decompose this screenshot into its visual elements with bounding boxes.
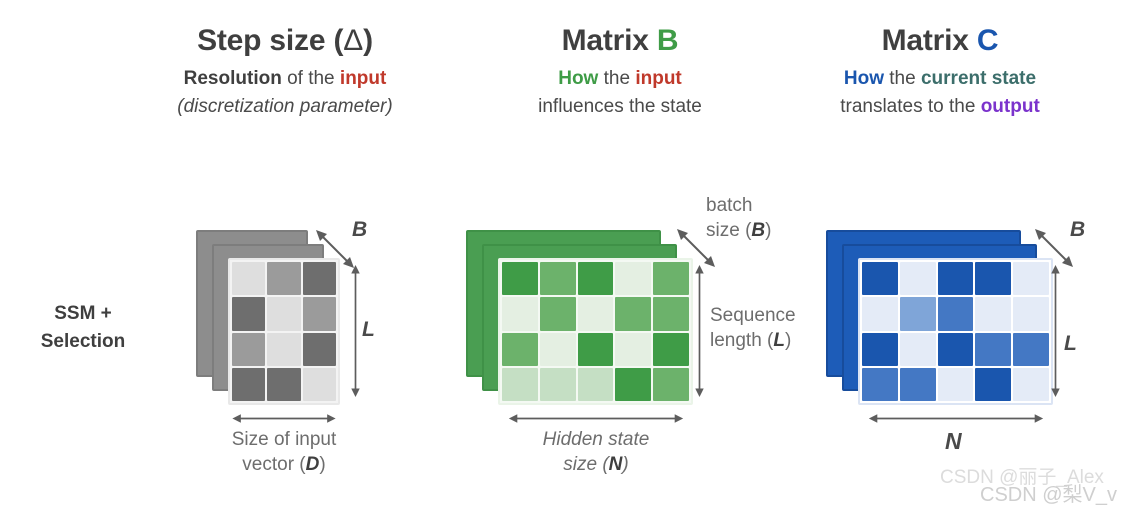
dimension-label-L-blue: L	[1064, 332, 1077, 356]
caption-symbol-D: D	[306, 454, 320, 475]
matrix-cell	[975, 333, 1011, 366]
diagram-canvas: Step size (Δ) Resolution of the input (d…	[0, 0, 1122, 507]
title-text: Step size (	[197, 24, 343, 57]
column-title-matrix-c: Matrix C	[790, 22, 1090, 60]
matrix-cell	[862, 297, 898, 330]
matrix-cell	[653, 333, 689, 366]
matrix-cell	[862, 333, 898, 366]
annotation-batch-size: batch size (B)	[706, 193, 826, 243]
matrix-cell	[578, 262, 614, 295]
row-label-ssm-selection: SSM + Selection	[8, 300, 158, 355]
matrix-cell	[862, 368, 898, 401]
batch-symbol-B: B	[751, 220, 765, 241]
caption-line2-pre: size (	[563, 454, 608, 475]
row-label-line1: SSM +	[8, 300, 158, 328]
caption-step-size: Size of input vector (D)	[178, 428, 390, 477]
dimension-arrow-D-gray	[222, 413, 346, 424]
sub-word-resolution: Resolution	[184, 68, 282, 89]
caption-line2: vector (D)	[178, 453, 390, 478]
matrix-cell	[232, 333, 265, 366]
dimension-arrow-N-green	[492, 413, 700, 424]
matrix-grid-matrix-b	[498, 258, 693, 405]
matrix-cell	[862, 262, 898, 295]
matrix-cell	[267, 368, 300, 401]
caption-line2: size (N)	[490, 453, 702, 478]
matrix-cell	[303, 333, 336, 366]
title-text: Matrix	[562, 24, 657, 57]
column-subtitle-matrix-c-line2: translates to the output	[790, 95, 1090, 119]
dimension-label-N-blue: N	[945, 428, 962, 455]
batch-size-line2: size (B)	[706, 218, 826, 243]
matrix-cell	[975, 368, 1011, 401]
matrix-cell	[267, 333, 300, 366]
dimension-arrow-L-green	[694, 252, 705, 410]
dimension-arrow-N-blue	[852, 413, 1060, 424]
matrix-cell	[267, 297, 300, 330]
matrix-cell	[975, 297, 1011, 330]
matrix-cell	[540, 262, 576, 295]
dimension-arrow-L-blue	[1050, 252, 1061, 410]
caption-line1: Size of input	[178, 428, 390, 453]
matrix-cell	[303, 297, 336, 330]
matrix-cell	[578, 333, 614, 366]
dimension-arrow-L-gray	[350, 252, 361, 410]
matrix-cell	[267, 262, 300, 295]
batch-size-line1: batch	[706, 193, 826, 218]
caption-symbol-N: N	[609, 454, 623, 475]
column-subtitle-step-size-line2: (discretization parameter)	[110, 95, 460, 119]
matrix-cell	[615, 368, 651, 401]
column-subtitle-matrix-b-line2: influences the state	[470, 95, 770, 119]
title-symbol-delta: Δ	[343, 24, 363, 57]
sequence-line2-pre: length (	[710, 330, 773, 351]
dimension-arrow-B-gray	[314, 228, 356, 270]
matrix-cell	[653, 368, 689, 401]
matrix-cell	[232, 262, 265, 295]
matrix-cell	[1013, 368, 1049, 401]
column-title-matrix-b: Matrix B	[470, 22, 770, 60]
title-symbol-c: C	[977, 24, 998, 57]
matrix-cell	[502, 262, 538, 295]
watermark-csdn-2: CSDN @梨V_v	[980, 478, 1117, 507]
sub-word-connector: the	[598, 68, 635, 89]
column-subtitle-matrix-c-line1: How the current state	[790, 67, 1090, 91]
dimension-label-B-gray: B	[352, 218, 367, 242]
sequence-line1: Sequence	[710, 303, 840, 328]
sub-word-input: input	[635, 68, 681, 89]
sub-word-connector: the	[884, 68, 921, 89]
sequence-line2-post: )	[785, 330, 791, 351]
matrix-cell	[615, 262, 651, 295]
matrix-cell	[540, 368, 576, 401]
sub-word-connector: of the	[282, 68, 340, 89]
matrix-cell	[232, 368, 265, 401]
sub-word-how: How	[844, 68, 884, 89]
sub-word-output: output	[981, 96, 1040, 117]
matrix-cell	[900, 297, 936, 330]
batch-line2-post: )	[765, 220, 771, 241]
title-symbol-b: B	[657, 24, 678, 57]
batch-line2-pre: size (	[706, 220, 751, 241]
matrix-cell	[502, 297, 538, 330]
caption-line2-post: )	[622, 454, 628, 475]
matrix-cell	[1013, 297, 1049, 330]
sub-word-how: How	[558, 68, 598, 89]
column-header-matrix-b: Matrix B How the input influences the st…	[470, 22, 770, 119]
matrix-cell	[303, 368, 336, 401]
matrix-cell	[540, 333, 576, 366]
sequence-symbol-L: L	[773, 330, 785, 351]
watermark-csdn-1: CSDN @丽子_Alex	[940, 462, 1104, 489]
sub-word-input: input	[340, 68, 386, 89]
column-subtitle-step-size-line1: Resolution of the input	[110, 67, 460, 91]
matrix-cell	[578, 297, 614, 330]
matrix-cell	[578, 368, 614, 401]
matrix-cell	[232, 297, 265, 330]
matrix-cell	[975, 262, 1011, 295]
matrix-cell	[900, 262, 936, 295]
sub-word-translates: translates to the	[840, 96, 980, 117]
matrix-grid-step-size	[228, 258, 340, 405]
matrix-cell	[1013, 333, 1049, 366]
annotation-sequence-length: Sequence length (L)	[710, 303, 840, 353]
column-title-step-size: Step size (Δ)	[110, 22, 460, 60]
column-subtitle-matrix-b-line1: How the input	[470, 67, 770, 91]
sequence-line2: length (L)	[710, 328, 840, 353]
dimension-label-B-blue: B	[1070, 218, 1085, 242]
matrix-cell	[502, 333, 538, 366]
caption-line1: Hidden state	[490, 428, 702, 453]
matrix-cell	[938, 368, 974, 401]
column-header-matrix-c: Matrix C How the current state translate…	[790, 22, 1090, 119]
matrix-cell	[502, 368, 538, 401]
caption-line2-post: )	[319, 454, 325, 475]
title-text: Matrix	[882, 24, 977, 57]
caption-matrix-b: Hidden state size (N)	[490, 428, 702, 477]
column-header-step-size: Step size (Δ) Resolution of the input (d…	[110, 22, 460, 119]
dimension-label-L-gray: L	[362, 318, 375, 342]
matrix-cell	[615, 297, 651, 330]
row-label-line2: Selection	[8, 328, 158, 356]
matrix-grid-matrix-c	[858, 258, 1053, 405]
matrix-cell	[900, 368, 936, 401]
matrix-cell	[615, 333, 651, 366]
matrix-cell	[938, 333, 974, 366]
matrix-cell	[900, 333, 936, 366]
matrix-cell	[540, 297, 576, 330]
sub-word-current-state: current state	[921, 68, 1036, 89]
matrix-cell	[938, 297, 974, 330]
matrix-cell	[653, 297, 689, 330]
matrix-cell	[938, 262, 974, 295]
caption-line2-pre: vector (	[242, 454, 305, 475]
title-close: )	[363, 24, 373, 57]
